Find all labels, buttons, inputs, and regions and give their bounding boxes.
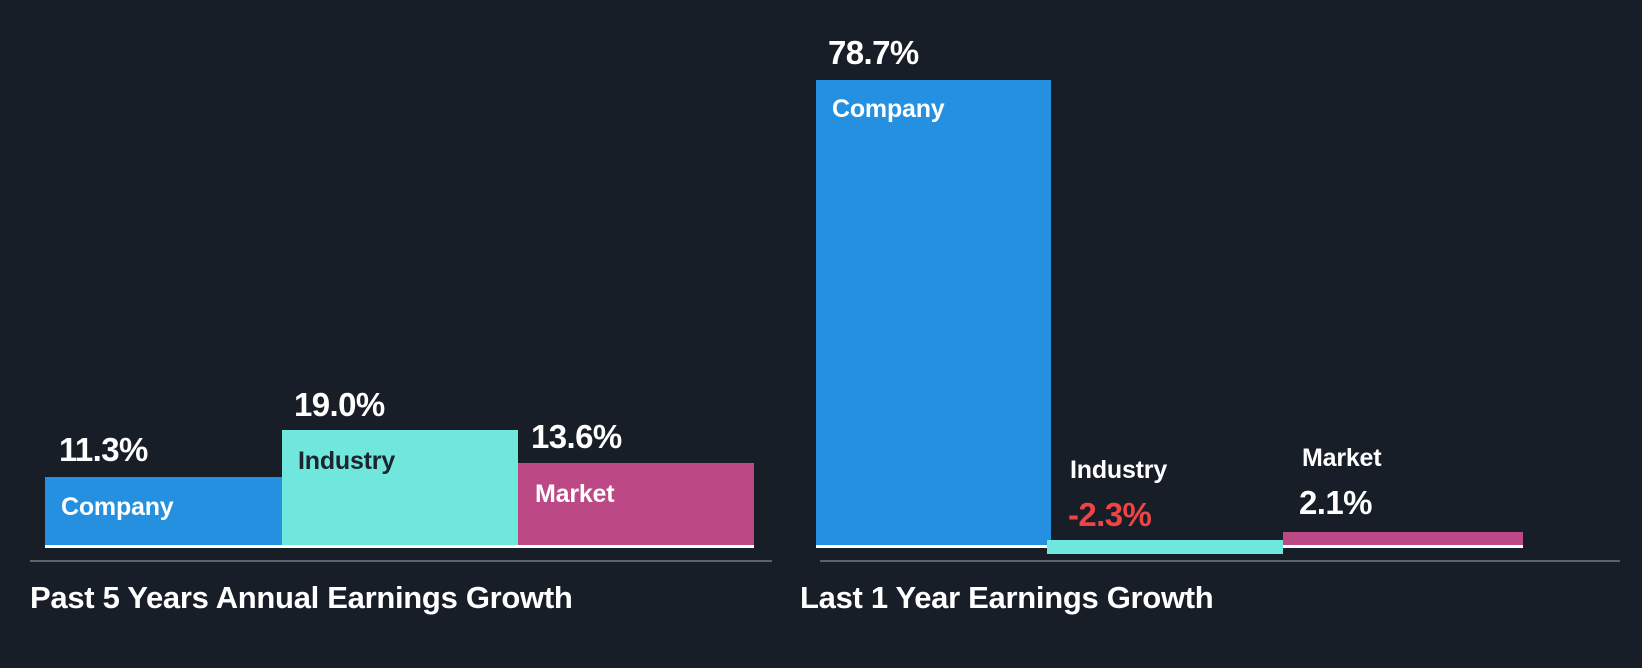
bar-label-company-past-5-years: Company xyxy=(61,493,174,522)
value-label-industry-past-5-years: 19.0% xyxy=(294,386,385,424)
bar-underline-market-past-5-years xyxy=(518,545,754,548)
chart-title-last-1-year: Last 1 Year Earnings Growth xyxy=(800,580,1213,616)
bar-underline-industry-past-5-years xyxy=(282,545,518,548)
value-label-market-last-1-year: 2.1% xyxy=(1299,484,1372,522)
bar-label-industry-past-5-years: Industry xyxy=(298,447,395,476)
bar-label-market-past-5-years: Market xyxy=(535,480,614,509)
chart-panel-last-1-year: Company 78.7% Industry -2.3% Market 2.1%… xyxy=(800,0,1642,668)
bar-label-industry-last-1-year: Industry xyxy=(1070,456,1167,485)
bar-underline-company-past-5-years xyxy=(45,545,282,548)
bar-label-company-last-1-year: Company xyxy=(832,95,945,124)
bar-label-market-last-1-year: Market xyxy=(1302,444,1381,473)
axis-baseline-last-1-year xyxy=(820,560,1620,562)
bar-underline-company-last-1-year xyxy=(816,545,1051,548)
chart-title-past-5-years: Past 5 Years Annual Earnings Growth xyxy=(30,580,573,616)
earnings-growth-comparison-figure: Company 11.3% Industry 19.0% Market 13.6… xyxy=(0,0,1642,668)
bar-company-last-1-year[interactable] xyxy=(816,80,1051,545)
plot-area-past-5-years: Company 11.3% Industry 19.0% Market 13.6… xyxy=(0,0,800,560)
bar-underline-market-last-1-year xyxy=(1283,545,1523,548)
value-label-company-last-1-year: 78.7% xyxy=(828,34,919,72)
bar-market-last-1-year[interactable] xyxy=(1283,532,1523,545)
axis-baseline-past-5-years xyxy=(30,560,772,562)
value-label-market-past-5-years: 13.6% xyxy=(531,418,622,456)
chart-panel-past-5-years: Company 11.3% Industry 19.0% Market 13.6… xyxy=(0,0,800,668)
plot-area-last-1-year: Company 78.7% Industry -2.3% Market 2.1% xyxy=(800,0,1642,560)
value-label-company-past-5-years: 11.3% xyxy=(59,431,148,469)
value-label-industry-last-1-year: -2.3% xyxy=(1068,496,1151,534)
bar-industry-last-1-year[interactable] xyxy=(1047,540,1283,554)
